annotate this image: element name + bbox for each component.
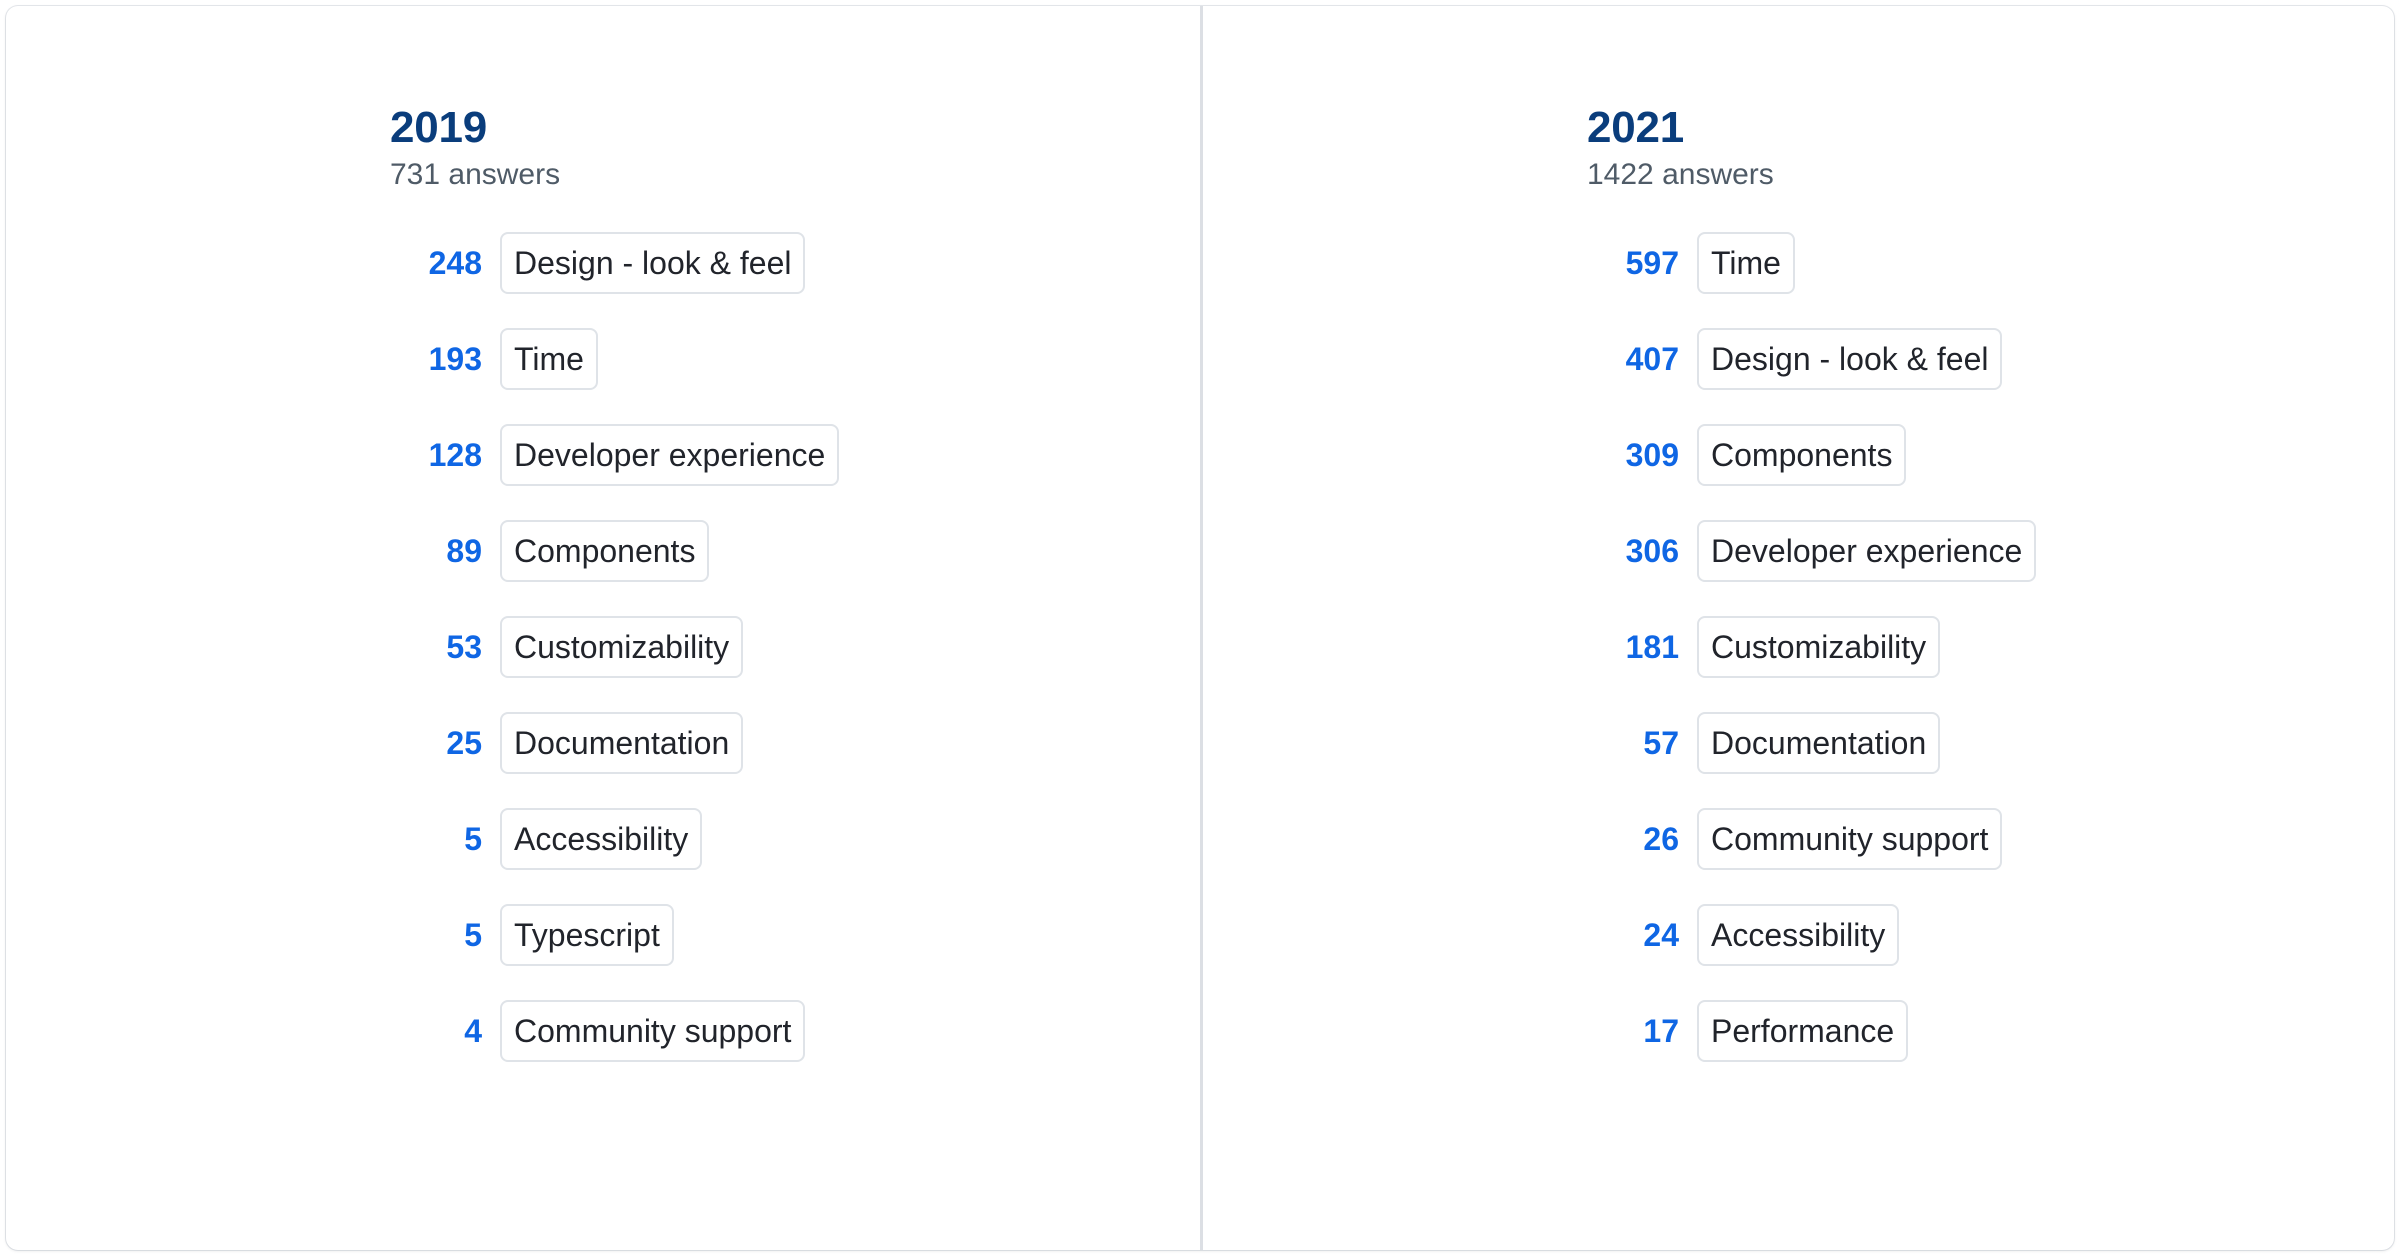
answer-row[interactable]: 407 Design - look & feel	[1587, 328, 2036, 390]
answer-label-pill[interactable]: Developer experience	[500, 424, 839, 486]
answer-count: 89	[390, 535, 482, 567]
answer-count: 597	[1587, 247, 1679, 279]
answer-label-pill[interactable]: Accessibility	[500, 808, 702, 870]
answer-label-pill[interactable]: Components	[500, 520, 709, 582]
answer-count: 4	[390, 1015, 482, 1047]
answer-count: 24	[1587, 919, 1679, 951]
answer-label-pill[interactable]: Customizability	[1697, 616, 1940, 678]
panel-content-2019: 2019 731 answers 248 Design - look & fee…	[390, 106, 839, 1062]
year-panel-2019: 2019 731 answers 248 Design - look & fee…	[6, 6, 1200, 1250]
answers-count-2021: 1422 answers	[1587, 160, 2036, 190]
answer-list-2021: 597 Time 407 Design - look & feel 309 Co…	[1587, 232, 2036, 1062]
answer-label-pill[interactable]: Time	[500, 328, 598, 390]
answer-count: 181	[1587, 631, 1679, 663]
answer-label-pill[interactable]: Performance	[1697, 1000, 1908, 1062]
answer-count: 306	[1587, 535, 1679, 567]
answer-count: 25	[390, 727, 482, 759]
comparison-card: 2019 731 answers 248 Design - look & fee…	[6, 6, 2394, 1250]
answer-label-pill[interactable]: Customizability	[500, 616, 743, 678]
answer-row[interactable]: 5 Accessibility	[390, 808, 839, 870]
year-title-2019: 2019	[390, 106, 839, 150]
answer-row[interactable]: 128 Developer experience	[390, 424, 839, 486]
answer-row[interactable]: 306 Developer experience	[1587, 520, 2036, 582]
answer-row[interactable]: 89 Components	[390, 520, 839, 582]
answer-row[interactable]: 309 Components	[1587, 424, 2036, 486]
panel-content-2021: 2021 1422 answers 597 Time 407 Design - …	[1587, 106, 2036, 1062]
answer-label-pill[interactable]: Components	[1697, 424, 1906, 486]
answer-label-pill[interactable]: Time	[1697, 232, 1795, 294]
answer-label-pill[interactable]: Community support	[500, 1000, 805, 1062]
answer-row[interactable]: 24 Accessibility	[1587, 904, 2036, 966]
answer-list-2019: 248 Design - look & feel 193 Time 128 De…	[390, 232, 839, 1062]
answers-count-2019: 731 answers	[390, 160, 839, 190]
answer-count: 193	[390, 343, 482, 375]
answer-row[interactable]: 53 Customizability	[390, 616, 839, 678]
answer-row[interactable]: 597 Time	[1587, 232, 2036, 294]
answer-row[interactable]: 25 Documentation	[390, 712, 839, 774]
answer-count: 5	[390, 823, 482, 855]
answer-count: 53	[390, 631, 482, 663]
answer-label-pill[interactable]: Documentation	[500, 712, 743, 774]
year-title-2021: 2021	[1587, 106, 2036, 150]
answer-label-pill[interactable]: Typescript	[500, 904, 674, 966]
answer-count: 57	[1587, 727, 1679, 759]
answer-row[interactable]: 57 Documentation	[1587, 712, 2036, 774]
answer-label-pill[interactable]: Accessibility	[1697, 904, 1899, 966]
answer-count: 26	[1587, 823, 1679, 855]
answer-count: 309	[1587, 439, 1679, 471]
answer-row[interactable]: 248 Design - look & feel	[390, 232, 839, 294]
answer-row[interactable]: 5 Typescript	[390, 904, 839, 966]
answer-label-pill[interactable]: Design - look & feel	[1697, 328, 2002, 390]
answer-row[interactable]: 181 Customizability	[1587, 616, 2036, 678]
answer-count: 407	[1587, 343, 1679, 375]
answer-count: 5	[390, 919, 482, 951]
answer-count: 17	[1587, 1015, 1679, 1047]
answer-row[interactable]: 26 Community support	[1587, 808, 2036, 870]
answer-label-pill[interactable]: Developer experience	[1697, 520, 2036, 582]
answer-count: 128	[390, 439, 482, 471]
answer-label-pill[interactable]: Community support	[1697, 808, 2002, 870]
answer-row[interactable]: 17 Performance	[1587, 1000, 2036, 1062]
year-panel-2021: 2021 1422 answers 597 Time 407 Design - …	[1200, 6, 2394, 1250]
answer-label-pill[interactable]: Documentation	[1697, 712, 1940, 774]
answer-count: 248	[390, 247, 482, 279]
answer-label-pill[interactable]: Design - look & feel	[500, 232, 805, 294]
answer-row[interactable]: 193 Time	[390, 328, 839, 390]
answer-row[interactable]: 4 Community support	[390, 1000, 839, 1062]
